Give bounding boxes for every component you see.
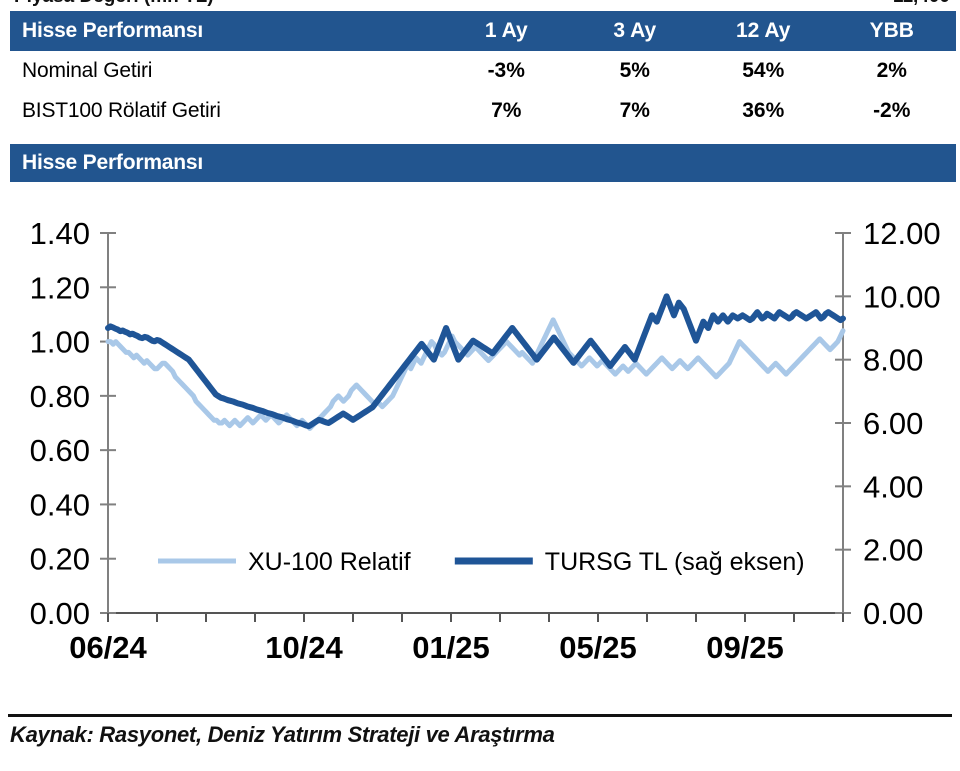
y-tick-label-left: 1.40 xyxy=(30,216,90,251)
y-tick-label-left: 0.00 xyxy=(30,596,90,631)
x-tick-label: 01/25 xyxy=(412,630,490,665)
column-header-ybb: YBB xyxy=(828,19,957,43)
y-tick-label-right: 8.00 xyxy=(863,343,923,378)
row-label-nominal-getiri: Nominal Getiri xyxy=(10,59,442,83)
y-tick-label-left: 0.60 xyxy=(30,433,90,468)
y-tick-label-right: 0.00 xyxy=(863,596,923,631)
cropped-top-row: Piyasa Değeri (mn TL) 11,400 xyxy=(10,0,956,10)
series-line xyxy=(108,320,843,429)
legend-label: XU-100 Relatif xyxy=(248,548,411,576)
x-tick-label: 05/25 xyxy=(559,630,637,665)
cropped-top-row-right-text: 11,400 xyxy=(893,0,950,8)
column-header-1-ay: 1 Ay xyxy=(442,19,571,43)
y-tick-label-left: 0.40 xyxy=(30,487,90,522)
cell-nominal-1-ay: -3% xyxy=(442,59,571,83)
row-label-bist100-rolatif-getiri: BIST100 Rölatif Getiri xyxy=(10,99,442,123)
share-performance-chart: 0.000.200.400.600.801.001.201.400.002.00… xyxy=(0,196,960,666)
x-tick-label: 10/24 xyxy=(265,630,343,665)
table-header-row: Hisse Performansı 1 Ay 3 Ay 12 Ay YBB xyxy=(10,11,956,51)
legend-label: TURSG TL (sağ eksen) xyxy=(545,548,805,576)
cell-nominal-12-ay: 54% xyxy=(699,59,828,83)
section-band-title: Hisse Performansı xyxy=(10,151,203,175)
column-header-12-ay: 12 Ay xyxy=(699,19,828,43)
chart-svg: 0.000.200.400.600.801.001.201.400.002.00… xyxy=(0,196,960,666)
y-tick-label-right: 2.00 xyxy=(863,533,923,568)
y-tick-label-left: 1.00 xyxy=(30,325,90,360)
footer-divider xyxy=(8,714,952,717)
footer-source-text: Kaynak: Rasyonet, Deniz Yatırım Strateji… xyxy=(10,722,555,748)
y-tick-label-right: 6.00 xyxy=(863,406,923,441)
cell-rolatif-1-ay: 7% xyxy=(442,99,571,123)
x-tick-label: 06/24 xyxy=(69,630,147,665)
y-tick-label-left: 0.80 xyxy=(30,379,90,414)
y-tick-label-left: 0.20 xyxy=(30,542,90,577)
cell-rolatif-ybb: -2% xyxy=(828,99,957,123)
share-performance-table: Hisse Performansı 1 Ay 3 Ay 12 Ay YBB No… xyxy=(10,11,956,131)
table-header-title: Hisse Performansı xyxy=(10,19,442,43)
x-tick-label: 09/25 xyxy=(706,630,784,665)
y-tick-label-right: 4.00 xyxy=(863,469,923,504)
cell-rolatif-3-ay: 7% xyxy=(571,99,700,123)
y-tick-label-right: 12.00 xyxy=(863,216,941,251)
cropped-top-row-left-text: Piyasa Değeri (mn TL) xyxy=(14,0,214,8)
y-tick-label-right: 10.00 xyxy=(863,279,941,314)
cell-nominal-3-ay: 5% xyxy=(571,59,700,83)
section-band-hisse-performansi: Hisse Performansı xyxy=(10,144,956,182)
cell-rolatif-12-ay: 36% xyxy=(699,99,828,123)
column-header-3-ay: 3 Ay xyxy=(571,19,700,43)
cell-nominal-ybb: 2% xyxy=(828,59,957,83)
table-row: Nominal Getiri -3% 5% 54% 2% xyxy=(10,51,956,91)
table-row: BIST100 Rölatif Getiri 7% 7% 36% -2% xyxy=(10,91,956,131)
y-tick-label-left: 1.20 xyxy=(30,270,90,305)
